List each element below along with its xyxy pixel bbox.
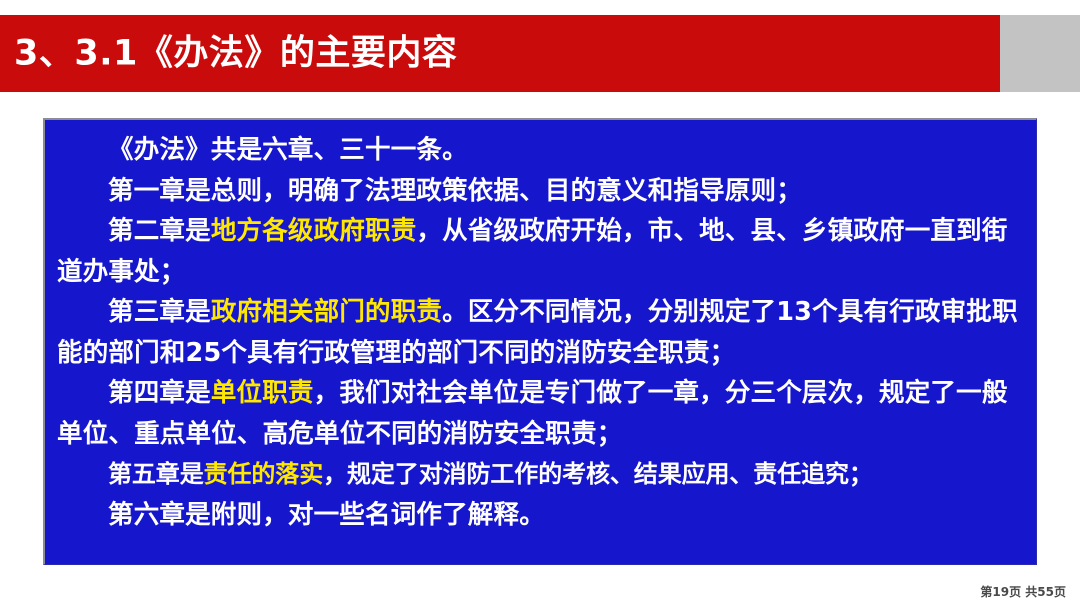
body-text-run: 第三章是 (108, 297, 211, 327)
paragraph-2: 第一章是总则，明确了法理政策依据、目的意义和指导原则； (57, 171, 1024, 212)
paragraph-1: 《办法》共是六章、三十一条。 (57, 130, 1024, 171)
paragraph-4: 第三章是政府相关部门的职责。区分不同情况，分别规定了13个具有行政审批职能的部门… (57, 292, 1024, 373)
body-text-run: 第二章是 (108, 216, 211, 246)
body-text-run: 《办法》共是六章、三十一条。 (108, 135, 468, 165)
highlighted-term: 责任的落实 (204, 460, 324, 488)
highlighted-term: 单位职责 (211, 378, 314, 408)
body-text-run: 第六章是附则，对一些名词作了解释。 (108, 500, 545, 530)
paragraph-7: 第六章是附则，对一些名词作了解释。 (57, 495, 1024, 536)
highlighted-term: 地方各级政府职责 (211, 216, 417, 246)
paragraph-5: 第四章是单位职责，我们对社会单位是专门做了一章，分三个层次，规定了一般单位、重点… (57, 373, 1024, 454)
body-text-run: 第一章是总则，明确了法理政策依据、目的意义和指导原则； (108, 176, 802, 206)
paragraph-3: 第二章是地方各级政府职责，从省级政府开始，市、地、县、乡镇政府一直到街道办事处； (57, 211, 1024, 292)
page-number-footer: 第19页 共55页 (980, 583, 1066, 600)
paragraph-6: 第五章是责任的落实，规定了对消防工作的考核、结果应用、责任追究； (57, 454, 1024, 495)
body-text-run: ，规定了对消防工作的考核、结果应用、责任追究； (323, 460, 873, 488)
slide-title-bar: 3、3.1《办法》的主要内容 (0, 15, 1080, 92)
slide-canvas: 3、3.1《办法》的主要内容 《办法》共是六章、三十一条。 第一章是总则，明确了… (0, 0, 1080, 608)
title-bar-gray-block (1000, 15, 1080, 92)
content-panel: 《办法》共是六章、三十一条。 第一章是总则，明确了法理政策依据、目的意义和指导原… (43, 118, 1037, 565)
body-text-run: 第四章是 (108, 378, 211, 408)
body-text-run: 第五章是 (108, 460, 204, 488)
highlighted-term: 政府相关部门的职责 (211, 297, 442, 327)
page-title: 3、3.1《办法》的主要内容 (14, 36, 457, 71)
